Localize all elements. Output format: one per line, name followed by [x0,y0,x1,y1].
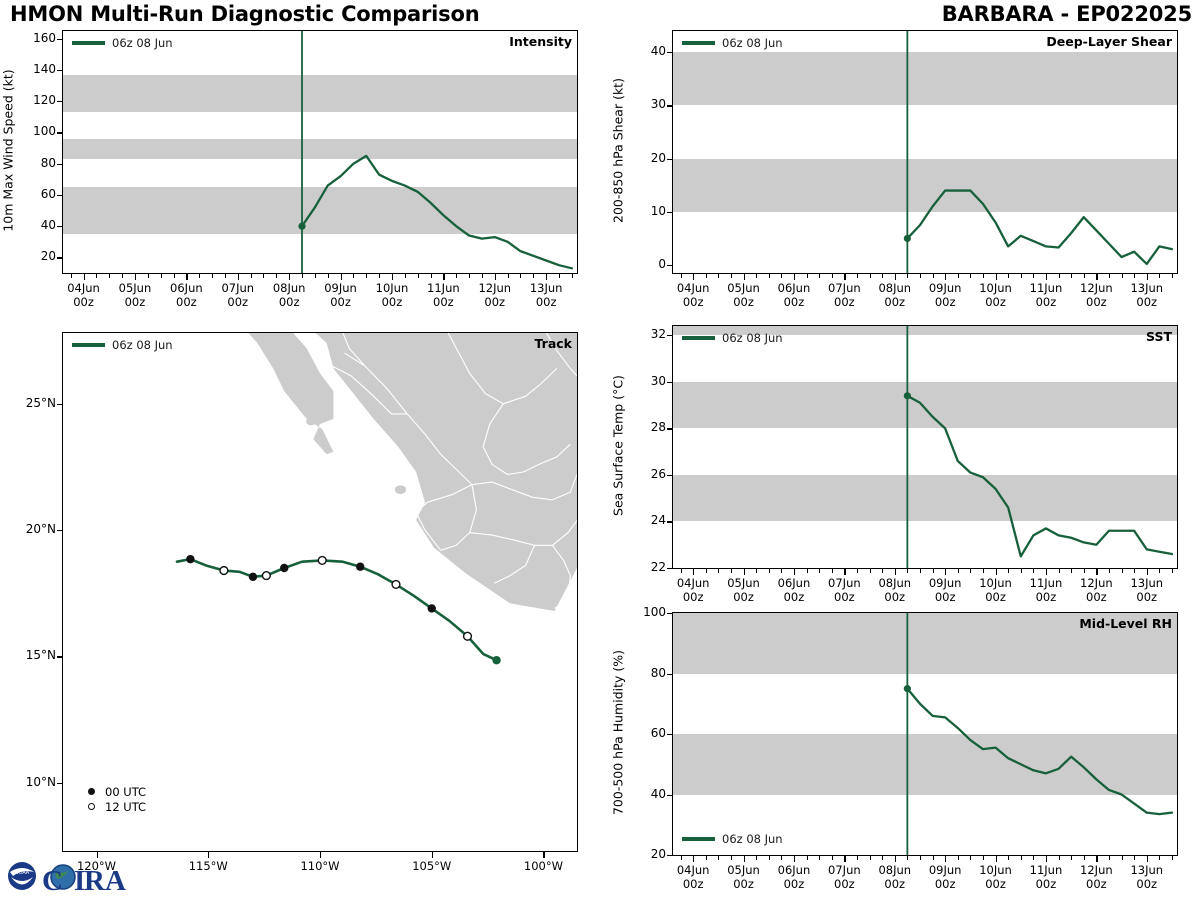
filled-circle-icon [88,788,95,795]
x-minor-tick [681,274,682,278]
x-tick-mark [392,274,393,280]
x-tick-mark [495,274,496,280]
rh-plot-frame [672,612,1178,856]
noaa-logo-icon: NOAA [8,862,36,890]
x-tick-label: 13Jun00z [1115,282,1179,309]
x-minor-tick [96,274,97,278]
x-minor-tick [958,856,959,860]
x-minor-tick [1109,856,1110,860]
y-tick-label: 24 [626,513,666,527]
x-tick-mark [1147,569,1148,575]
x-minor-tick [1134,569,1135,573]
y-tick-label: 20 [626,151,666,165]
track-marker-12utc [464,632,472,640]
y-tick-label: 120 [16,93,56,107]
intensity-series-svg [63,31,577,273]
page-title-right: BARBARA - EP022025 [942,2,1192,26]
track-marker-legend: 00 UTC 12 UTC [84,784,146,814]
y-tick-mark [667,674,673,675]
x-minor-tick [1109,274,1110,278]
x-minor-tick [706,856,707,860]
y-tick-mark [667,855,673,856]
x-minor-tick [769,856,770,860]
series-line [907,689,1172,815]
x-minor-tick [731,856,732,860]
svg-text:NOAA: NOAA [15,870,30,876]
legend-label: 06z 08 Jun [722,36,783,50]
y-tick-mark [667,382,673,383]
x-minor-tick [1172,856,1173,860]
lat-tick-mark [57,783,63,784]
legend-line-swatch [72,343,105,346]
track-plot-frame [62,332,578,852]
y-tick-mark [57,195,63,196]
y-tick-mark [667,475,673,476]
x-tick-mark [443,274,444,280]
x-minor-tick [418,274,419,278]
x-minor-tick [1008,856,1009,860]
x-minor-tick [1071,569,1072,573]
y-tick-label: 30 [626,97,666,111]
x-minor-tick [263,274,264,278]
x-minor-tick [933,569,934,573]
x-minor-tick [1059,569,1060,573]
y-tick-label: 40 [16,218,56,232]
legend-label: 06z 08 Jun [112,338,173,352]
x-tick-mark [1096,274,1097,280]
lon-tick-mark [208,852,209,858]
x-minor-tick [1033,274,1034,278]
x-minor-tick [958,569,959,573]
x-minor-tick [469,274,470,278]
x-minor-tick [718,569,719,573]
x-minor-tick [1122,856,1123,860]
x-minor-tick [718,274,719,278]
x-minor-tick [907,274,908,278]
track-marker-12utc [220,567,228,575]
baja-peninsula [159,332,333,454]
legend-12utc-label: 12 UTC [105,800,146,814]
x-tick-mark [341,274,342,280]
lat-tick-mark [57,656,63,657]
track-marker-00utc [356,563,364,571]
y-tick-label: 160 [16,31,56,45]
x-minor-tick [781,569,782,573]
y-tick-label: 26 [626,467,666,481]
x-tick-label: 13Jun00z [1115,864,1179,891]
x-minor-tick [1059,856,1060,860]
legend-line-swatch [682,41,715,44]
x-minor-tick [1008,274,1009,278]
track-legend: 06z 08 Jun [72,338,173,352]
y-tick-mark [57,39,63,40]
island-2 [306,418,316,426]
x-minor-tick [148,274,149,278]
x-minor-tick [681,569,682,573]
x-minor-tick [1071,856,1072,860]
x-minor-tick [769,274,770,278]
x-minor-tick [933,856,934,860]
x-minor-tick [983,856,984,860]
intensity-title: Intensity [509,34,572,49]
sst-title: SST [1146,329,1172,344]
x-minor-tick [970,856,971,860]
x-tick-mark [289,274,290,280]
y-tick-mark [667,159,673,160]
rh-legend: 06z 08 Jun [682,832,783,846]
y-tick-label: 100 [16,124,56,138]
legend-label: 06z 08 Jun [722,331,783,345]
x-tick-mark [546,274,547,280]
x-minor-tick [379,274,380,278]
panel-shear: Deep-Layer Shear 06z 08 Jun [672,30,1178,274]
x-minor-tick [302,274,303,278]
x-minor-tick [456,274,457,278]
x-minor-tick [970,274,971,278]
track-marker-00utc [280,564,288,572]
track-title: Track [535,336,572,351]
x-tick-mark [744,274,745,280]
x-minor-tick [1172,569,1173,573]
x-minor-tick [819,856,820,860]
y-tick-label: 140 [16,62,56,76]
x-tick-mark [1096,569,1097,575]
x-minor-tick [1084,274,1085,278]
y-tick-mark [57,226,63,227]
y-tick-mark [667,795,673,796]
x-tick-mark [996,274,997,280]
y-tick-label: 10 [626,204,666,218]
x-minor-tick [832,856,833,860]
x-minor-tick [857,569,858,573]
x-minor-tick [920,569,921,573]
y-tick-label: 0 [626,257,666,271]
x-tick-mark [693,856,694,862]
series-line [907,191,1172,264]
x-tick-mark [1046,856,1047,862]
x-minor-tick [706,274,707,278]
x-minor-tick [819,569,820,573]
x-minor-tick [109,274,110,278]
x-minor-tick [1008,569,1009,573]
legend-label: 06z 08 Jun [112,36,173,50]
x-minor-tick [920,856,921,860]
y-tick-mark [57,70,63,71]
x-tick-mark [744,856,745,862]
x-minor-tick [882,569,883,573]
svg-text:C: C [42,865,63,897]
lat-tick-mark [57,404,63,405]
lon-tick-label: 115°W [176,860,240,874]
x-tick-mark [794,569,795,575]
page-title-left: HMON Multi-Run Diagnostic Comparison [10,2,479,26]
x-minor-tick [756,274,757,278]
y-tick-mark [667,52,673,53]
x-minor-tick [756,569,757,573]
x-minor-tick [907,856,908,860]
lon-tick-label: 100°W [511,860,575,874]
x-minor-tick [174,274,175,278]
y-axis-label: 200-850 hPa Shear (kt) [611,29,626,273]
x-tick-mark [895,569,896,575]
x-minor-tick [199,274,200,278]
x-minor-tick [276,274,277,278]
shear-series-svg [673,31,1177,273]
series-start-marker [904,392,911,399]
x-minor-tick [1159,274,1160,278]
intensity-plot-frame [62,30,578,274]
legend-line-swatch [682,837,715,840]
lat-tick-label: 10°N [10,775,56,789]
x-minor-tick [572,274,573,278]
y-tick-mark [667,734,673,735]
x-minor-tick [482,274,483,278]
x-tick-mark [238,274,239,280]
x-minor-tick [807,569,808,573]
x-minor-tick [1122,569,1123,573]
x-tick-label: 13Jun00z [514,282,578,309]
rh-title: Mid-Level RH [1079,616,1172,631]
x-minor-tick [807,856,808,860]
y-axis-label: Sea Surface Temp (°C) [611,324,626,568]
y-tick-mark [667,568,673,569]
x-minor-tick [933,274,934,278]
series-start-marker [904,235,911,242]
x-minor-tick [769,569,770,573]
x-minor-tick [328,274,329,278]
x-minor-tick [718,856,719,860]
track-marker-12utc [262,572,270,580]
x-minor-tick [731,569,732,573]
lon-tick-mark [97,852,98,858]
y-tick-label: 60 [626,726,666,740]
lon-tick-label: 105°W [400,860,464,874]
x-minor-tick [1033,569,1034,573]
x-tick-mark [1046,274,1047,280]
x-minor-tick [1134,856,1135,860]
y-axis-label: 700-500 hPa Humidity (%) [611,611,626,855]
x-minor-tick [1071,274,1072,278]
x-tick-mark [1147,856,1148,862]
y-tick-label: 28 [626,420,666,434]
island-3 [395,485,406,494]
x-minor-tick [353,274,354,278]
x-tick-mark [945,569,946,575]
x-minor-tick [1122,274,1123,278]
x-minor-tick [819,274,820,278]
x-minor-tick [731,274,732,278]
x-minor-tick [1059,274,1060,278]
y-tick-label: 40 [626,787,666,801]
legend-line-swatch [72,41,105,44]
y-tick-mark [57,164,63,165]
x-minor-tick [251,274,252,278]
track-marker-00utc [249,573,257,581]
x-minor-tick [882,274,883,278]
shear-legend: 06z 08 Jun [682,36,783,50]
lon-tick-label: 120°W [65,860,129,874]
x-tick-mark [186,274,187,280]
x-tick-mark [693,274,694,280]
x-minor-tick [870,274,871,278]
shear-title: Deep-Layer Shear [1046,34,1172,49]
track-marker-00utc [428,604,436,612]
x-tick-mark [84,274,85,280]
x-minor-tick [756,856,757,860]
x-minor-tick [1021,274,1022,278]
y-tick-label: 32 [626,327,666,341]
series-line [302,156,572,268]
x-minor-tick [122,274,123,278]
y-tick-mark [57,132,63,133]
y-tick-label: 60 [16,187,56,201]
legend-label: 06z 08 Jun [722,832,783,846]
lon-tick-label: 110°W [288,860,352,874]
x-minor-tick [508,274,509,278]
y-tick-mark [57,101,63,102]
x-tick-mark [1046,569,1047,575]
x-tick-mark [895,274,896,280]
x-minor-tick [1021,856,1022,860]
x-minor-tick [857,274,858,278]
x-tick-mark [895,856,896,862]
shear-plot-frame [672,30,1178,274]
lat-tick-label: 20°N [10,522,56,536]
y-tick-mark [667,335,673,336]
track-marker-12utc [392,581,400,589]
x-tick-mark [744,569,745,575]
x-minor-tick [1084,569,1085,573]
y-tick-label: 100 [626,605,666,619]
sst-legend: 06z 08 Jun [682,331,783,345]
x-minor-tick [870,569,871,573]
x-minor-tick [431,274,432,278]
x-minor-tick [807,274,808,278]
y-tick-mark [57,257,63,258]
x-tick-mark [844,274,845,280]
lat-tick-label: 15°N [10,648,56,662]
y-tick-label: 80 [626,666,666,680]
x-minor-tick [1134,274,1135,278]
lon-tick-mark [543,852,544,858]
x-minor-tick [1172,274,1173,278]
y-tick-label: 20 [626,847,666,861]
x-tick-mark [693,569,694,575]
x-minor-tick [857,856,858,860]
panel-rh: Mid-Level RH 06z 08 Jun [672,612,1178,856]
x-minor-tick [225,274,226,278]
sst-plot-frame [672,325,1178,569]
x-minor-tick [315,274,316,278]
x-tick-mark [844,856,845,862]
y-axis-label: 10m Max Wind Speed (kt) [1,29,16,273]
y-tick-mark [667,265,673,266]
series-start-marker [904,685,911,692]
x-tick-mark [794,856,795,862]
x-minor-tick [870,856,871,860]
lat-tick-label: 25°N [10,396,56,410]
legend-row-12utc: 12 UTC [84,799,146,814]
x-tick-label: 13Jun00z [1115,577,1179,604]
x-minor-tick [832,569,833,573]
lat-tick-mark [57,530,63,531]
x-minor-tick [366,274,367,278]
x-minor-tick [832,274,833,278]
x-minor-tick [706,569,707,573]
y-tick-mark [667,428,673,429]
open-circle-icon [88,803,95,810]
rh-series-svg [673,613,1177,855]
sst-series-svg [673,326,1177,568]
y-tick-label: 30 [626,374,666,388]
y-tick-mark [667,212,673,213]
track-marker-00utc [186,555,194,563]
track-marker-12utc [318,557,326,565]
y-tick-mark [667,521,673,522]
x-tick-mark [945,856,946,862]
x-minor-tick [1021,569,1022,573]
track-marker-endpoint [492,656,500,664]
series-start-marker [298,223,305,230]
lon-tick-mark [432,852,433,858]
x-tick-mark [945,274,946,280]
y-tick-mark [667,613,673,614]
y-tick-label: 40 [626,44,666,58]
x-minor-tick [533,274,534,278]
lon-tick-mark [320,852,321,858]
x-minor-tick [920,274,921,278]
x-minor-tick [1109,569,1110,573]
x-minor-tick [161,274,162,278]
x-minor-tick [983,569,984,573]
x-minor-tick [520,274,521,278]
x-minor-tick [681,856,682,860]
x-tick-mark [996,569,997,575]
track-map-svg [63,333,577,851]
x-tick-mark [844,569,845,575]
x-minor-tick [958,274,959,278]
x-minor-tick [1033,856,1034,860]
intensity-legend: 06z 08 Jun [72,36,173,50]
x-tick-mark [996,856,997,862]
x-minor-tick [983,274,984,278]
y-tick-mark [667,105,673,106]
x-minor-tick [212,274,213,278]
legend-line-swatch [682,336,715,339]
x-tick-mark [1096,856,1097,862]
x-minor-tick [907,569,908,573]
y-tick-label: 22 [626,560,666,574]
x-minor-tick [1159,856,1160,860]
y-tick-label: 20 [16,249,56,263]
x-tick-mark [1147,274,1148,280]
x-minor-tick [71,274,72,278]
x-tick-mark [135,274,136,280]
y-tick-label: 80 [16,156,56,170]
series-line [907,396,1172,557]
x-minor-tick [1084,856,1085,860]
x-minor-tick [882,856,883,860]
x-minor-tick [781,856,782,860]
x-minor-tick [970,569,971,573]
x-minor-tick [781,274,782,278]
x-minor-tick [559,274,560,278]
x-minor-tick [1159,569,1160,573]
x-tick-mark [794,274,795,280]
legend-row-00utc: 00 UTC [84,784,146,799]
panel-track: Track 06z 08 Jun 00 UTC 12 UTC [62,332,578,852]
panel-intensity: Intensity 06z 08 Jun [62,30,578,274]
